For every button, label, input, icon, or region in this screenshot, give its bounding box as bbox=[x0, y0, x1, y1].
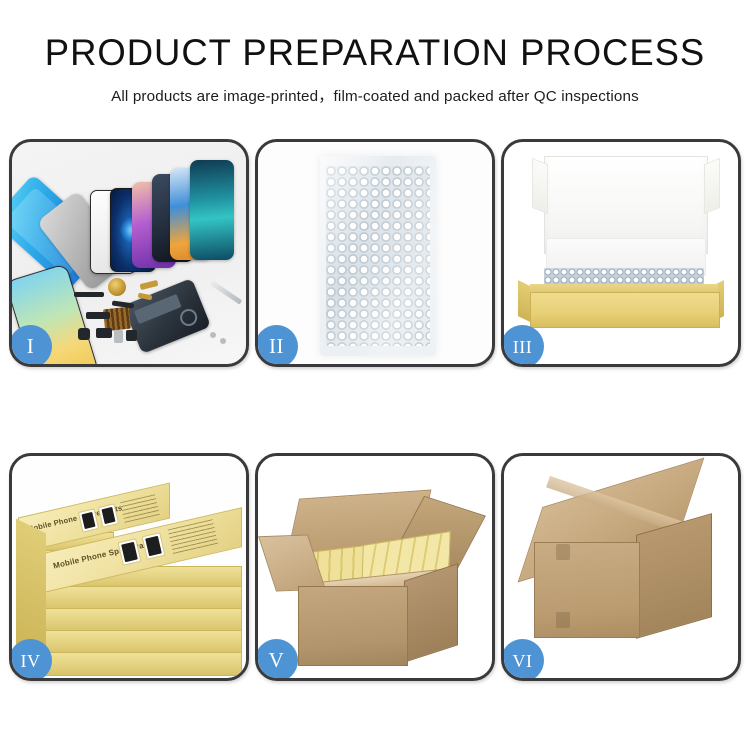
spare-part-screw-1 bbox=[210, 332, 216, 338]
step-1-image bbox=[12, 142, 246, 364]
bubble-wrap-pouch bbox=[320, 156, 436, 356]
sealed-carton-handle-notch-top bbox=[556, 544, 570, 560]
process-step-panel-4[interactable]: Mobile Phone Spare Parts Mobile Phone Sp… bbox=[9, 453, 249, 681]
process-step-grid: I II III bbox=[9, 139, 741, 681]
sealed-carton-front-face bbox=[534, 542, 640, 638]
process-step-panel-3[interactable]: III bbox=[501, 139, 741, 367]
retail-box-stack: Mobile Phone Spare Parts Mobile Phone Sp… bbox=[16, 474, 246, 674]
phone-teal bbox=[190, 160, 234, 260]
inner-box-front-panel-yellow bbox=[530, 292, 720, 328]
page-subtitle: All products are image-printed，film-coat… bbox=[0, 84, 750, 106]
retail-box-r2 bbox=[44, 586, 242, 610]
carton-front-face bbox=[298, 586, 408, 666]
step-2-image bbox=[258, 142, 492, 364]
step-badge-4: IV bbox=[9, 639, 52, 681]
sealed-carton-handle-notch-bottom bbox=[556, 612, 570, 628]
spare-part-screw-2 bbox=[220, 338, 226, 344]
retail-box-r5 bbox=[44, 652, 242, 676]
spare-part-camera bbox=[78, 328, 90, 340]
sealed-carton-side-face bbox=[636, 513, 712, 639]
carton-side-face bbox=[404, 563, 458, 663]
step-badge-2: II bbox=[255, 325, 298, 367]
step-badge-1: I bbox=[9, 325, 52, 367]
spare-part-button bbox=[126, 330, 137, 341]
step-badge-6: VI bbox=[501, 639, 544, 681]
step-4-image: Mobile Phone Spare Parts Mobile Phone Sp… bbox=[12, 456, 246, 678]
spare-part-vibrator-motor bbox=[108, 278, 126, 296]
process-step-panel-5[interactable]: V bbox=[255, 453, 495, 681]
spare-part-module-a bbox=[86, 312, 110, 319]
page-header: PRODUCT PREPARATION PROCESS All products… bbox=[0, 0, 750, 106]
retail-box-r4 bbox=[44, 630, 242, 654]
step-5-image bbox=[258, 456, 492, 678]
spare-part-speaker-strip bbox=[74, 292, 104, 297]
retail-box-r3 bbox=[44, 608, 242, 632]
step-badge-5: V bbox=[255, 639, 298, 681]
page-title: PRODUCT PREPARATION PROCESS bbox=[6, 34, 745, 72]
process-step-panel-6[interactable]: VI bbox=[501, 453, 741, 681]
spare-part-sim-tray bbox=[114, 330, 123, 343]
bubble-wrap-highlight bbox=[320, 156, 436, 356]
step-3-image bbox=[504, 142, 738, 364]
step-6-image bbox=[504, 456, 738, 678]
process-step-panel-1[interactable]: I bbox=[9, 139, 249, 367]
process-step-panel-2[interactable]: II bbox=[255, 139, 495, 367]
step-badge-3: III bbox=[501, 325, 544, 367]
spare-part-module-b bbox=[96, 328, 112, 338]
